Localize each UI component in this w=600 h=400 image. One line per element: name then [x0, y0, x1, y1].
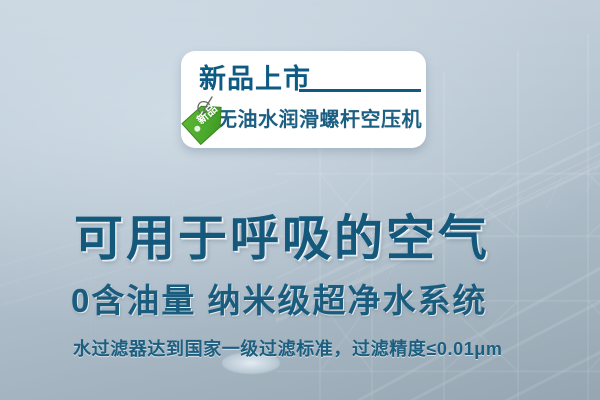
callout-underline	[299, 89, 421, 92]
promo-banner: 新品上市 无油水润滑螺杆空压机 新品 可用于呼吸的空气	[0, 0, 600, 400]
new-product-tag: 新品	[182, 94, 232, 142]
callout-title: 新品上市	[199, 57, 311, 96]
hero-subheadline: 0含油量 纳米级超净水系统	[71, 274, 488, 322]
hero-description: 水过滤器达到国家一级过滤标准，过滤精度≤0.01μm	[73, 335, 503, 361]
callout-subtitle: 无油水润滑螺杆空压机	[217, 103, 422, 132]
hero-headline: 可用于呼吸的空气	[74, 199, 490, 270]
